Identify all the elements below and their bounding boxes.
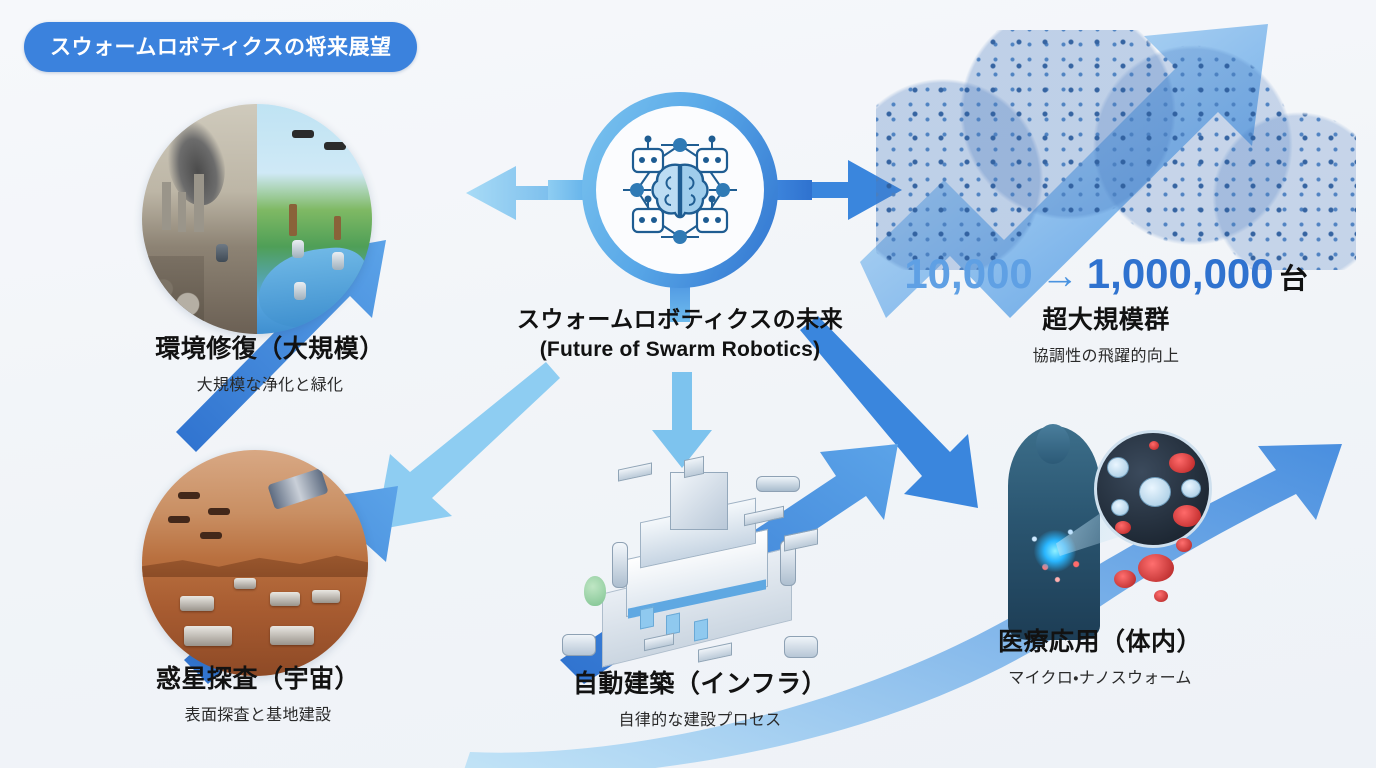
red-blood-cell (1154, 590, 1168, 602)
caption-title: 環境修復（大規模） (90, 335, 450, 364)
center-label-en: (Future of Swarm Robotics) (492, 338, 868, 362)
drone-icon (168, 516, 190, 523)
restoration-robot-icon (332, 252, 344, 270)
caption-title: 超大規模群 (936, 306, 1276, 335)
node-image-environment (142, 104, 372, 334)
red-blood-cell (1114, 570, 1136, 588)
caption-subtitle: 表面探査と基地建設 (78, 701, 438, 725)
humanoid-robot-icon (612, 542, 628, 588)
drone-icon (292, 130, 314, 138)
red-blood-cell (1149, 441, 1159, 450)
wheeled-robot-icon (562, 634, 596, 656)
center-label-jp: スウォームロボティクスの未来 (492, 300, 868, 334)
red-blood-cell (1173, 505, 1201, 527)
count-to: 1,000,000 (1087, 250, 1274, 297)
caption-title: 医療応用（体内） (930, 628, 1270, 657)
rover-icon (234, 578, 256, 589)
window-icon (694, 619, 708, 642)
node-image-medical (990, 418, 1214, 644)
cleanup-robot-icon (216, 244, 228, 262)
node-image-construction (548, 448, 848, 674)
red-blood-cell (1115, 521, 1131, 534)
nanobot-icon (1181, 479, 1201, 498)
scale-count-line: 10,000→1,000,000台 (856, 250, 1356, 298)
rover-icon (270, 592, 300, 606)
rover-icon (180, 596, 214, 611)
caption-subtitle: 自律的な建設プロセス (520, 706, 880, 730)
caption-title: 自動建築（インフラ） (520, 670, 880, 699)
center-caption: スウォームロボティクスの未来 (Future of Swarm Robotics… (492, 300, 868, 362)
nanobot-icon (1111, 499, 1129, 516)
drone-icon (756, 476, 800, 492)
nanobot-icon (1107, 457, 1129, 478)
red-blood-cell (1169, 453, 1195, 473)
caption-scale: 超大規模群 協調性の飛躍的向上 (936, 306, 1276, 366)
window-icon (640, 607, 654, 630)
caption-subtitle: 大規模な浄化と緑化 (90, 371, 450, 395)
restoration-robot-icon (292, 240, 304, 258)
hub-connector-right (772, 180, 812, 200)
building-block (618, 462, 652, 481)
caption-medical: 医療応用（体内） マイクロ・ナノスウォーム (930, 628, 1270, 688)
smokestack-icon (178, 192, 186, 232)
caption-subtitle: マイクロ・ナノスウォーム (930, 664, 1270, 688)
tree-icon (584, 576, 606, 606)
drone-icon (324, 142, 346, 150)
drone-icon (178, 492, 200, 499)
smokestack-icon (194, 174, 204, 232)
robot-icon-mass (876, 30, 1356, 270)
building-block (784, 528, 818, 551)
hub-ring (582, 92, 778, 288)
node-image-scale (876, 30, 1356, 270)
human-head (1036, 424, 1070, 464)
tree-trunk (289, 204, 297, 236)
brain-network-robots-icon (609, 119, 751, 261)
caption-subtitle: 協調性の飛躍的向上 (936, 342, 1276, 366)
infographic-canvas: スウォームロボティクスの将来展望 (0, 0, 1376, 768)
caption-construction: 自動建築（インフラ） 自律的な建設プロセス (520, 670, 880, 730)
building-block (698, 642, 732, 662)
tree-trunk (334, 216, 341, 240)
wheeled-robot-icon (784, 636, 818, 658)
red-blood-cell (1138, 554, 1174, 582)
restoration-robot-icon (294, 282, 306, 300)
drone-icon (208, 508, 230, 515)
rover-icon (312, 590, 340, 603)
debris-field (146, 256, 204, 334)
caption-environment: 環境修復（大規模） 大規模な浄化と緑化 (90, 335, 450, 395)
center-hub (582, 92, 778, 288)
count-from: 10,000 (904, 250, 1032, 297)
node-image-planetary (142, 450, 368, 676)
polluted-half (142, 104, 257, 334)
smokestack-icon (162, 182, 171, 230)
bloodstream-magnifier (1094, 430, 1212, 548)
rover-icon (270, 626, 314, 645)
arrow-right-glyph-icon: → (1041, 255, 1079, 297)
caption-planetary: 惑星探査（宇宙） 表面探査と基地建設 (78, 665, 438, 725)
hub-inner (596, 106, 764, 274)
caption-title: 惑星探査（宇宙） (78, 665, 438, 694)
red-blood-cell (1176, 538, 1192, 552)
drone-icon (200, 532, 222, 539)
rover-icon (184, 626, 232, 646)
building-tower (670, 472, 728, 530)
count-unit: 台 (1280, 263, 1308, 294)
nanobot-icon (1139, 477, 1171, 507)
